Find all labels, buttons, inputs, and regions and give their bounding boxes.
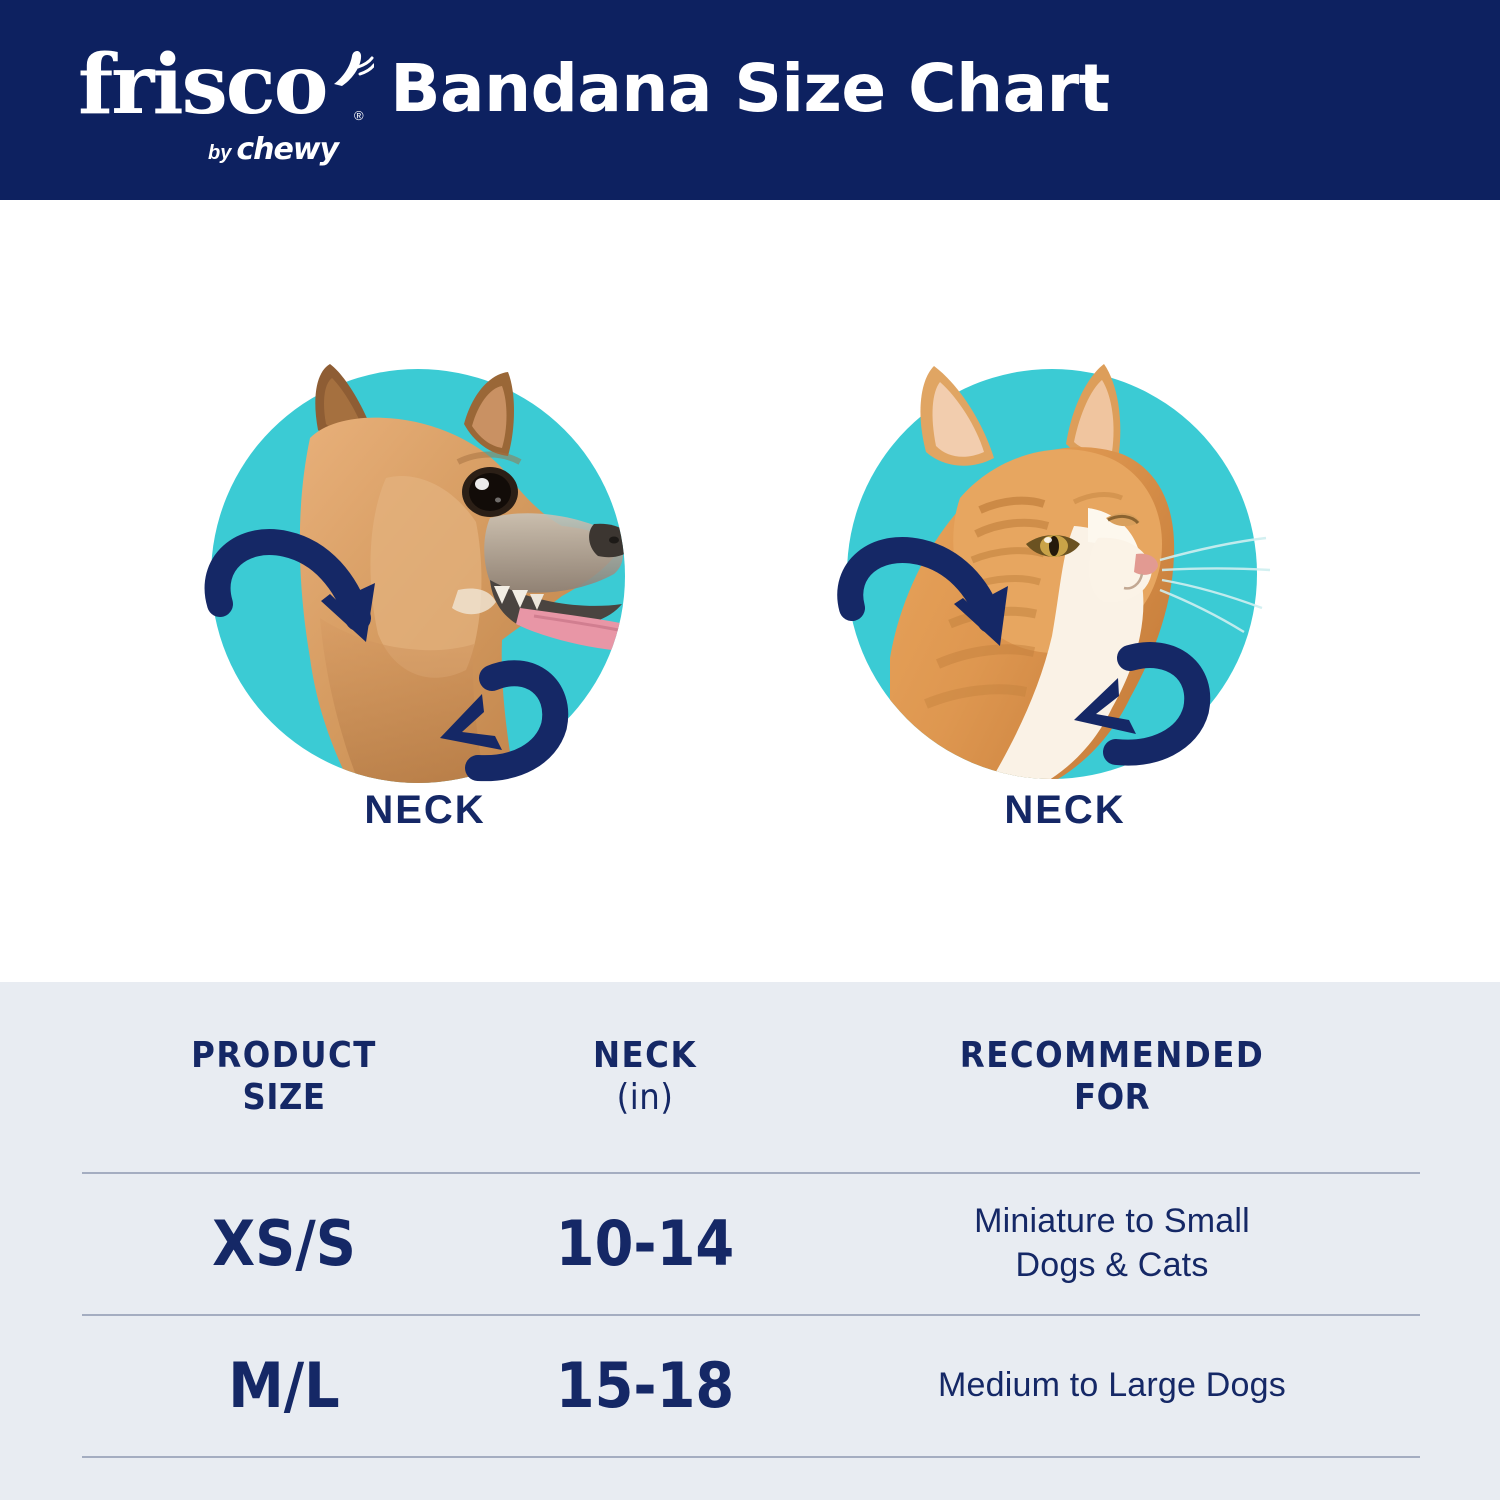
cat-neck-label: NECK: [830, 788, 1300, 833]
cell-recommended-for: Medium to Large Dogs: [804, 1364, 1420, 1408]
cell-recommended-for-text: Miniature to Small Dogs & Cats: [974, 1202, 1250, 1284]
illustration-area: NECK: [0, 200, 1500, 982]
column-header-recommended-for: RECOMMENDED FOR: [804, 1035, 1420, 1120]
cell-product-size: XS/S: [82, 1213, 486, 1275]
by-chewy-lockup: bychewy: [208, 132, 338, 167]
dog-measure-illustration: NECK: [190, 358, 660, 878]
cell-neck-range: 10-14: [486, 1213, 804, 1275]
table-row: XS/S 10-14 Miniature to Small Dogs & Cat…: [82, 1174, 1420, 1314]
column-header-neck-text: NECK (in): [486, 1035, 804, 1120]
header-bar: frisco ® bychewy Bandana Size Chart: [0, 0, 1500, 200]
table-header-row: PRODUCT SIZE NECK (in) RECOMMENDED FOR: [82, 982, 1420, 1172]
column-header-recommended-for-text: RECOMMENDED FOR: [804, 1035, 1420, 1120]
cat-image: [830, 358, 1300, 788]
table-grid: PRODUCT SIZE NECK (in) RECOMMENDED FOR: [82, 982, 1420, 1458]
logo-by-text: by: [208, 142, 231, 164]
table-divider: [82, 1172, 1420, 1174]
page-title: Bandana Size Chart: [0, 56, 1500, 122]
dog-image: [190, 358, 660, 788]
column-header-product-size-text: PRODUCT SIZE: [82, 1035, 486, 1120]
column-header-neck: NECK (in): [486, 1035, 804, 1120]
table-divider: [82, 1314, 1420, 1316]
chewy-wordmark: chewy: [236, 132, 338, 167]
cell-recommended-for-text: Medium to Large Dogs: [938, 1366, 1286, 1404]
cell-product-size: M/L: [82, 1355, 486, 1417]
cell-recommended-for: Miniature to Small Dogs & Cats: [804, 1200, 1420, 1287]
cell-neck-range: 15-18: [486, 1355, 804, 1417]
size-chart-table: PRODUCT SIZE NECK (in) RECOMMENDED FOR: [0, 982, 1500, 1500]
table-row: M/L 15-18 Medium to Large Dogs: [82, 1316, 1420, 1456]
table-divider: [82, 1456, 1420, 1458]
cat-measure-illustration: NECK: [830, 358, 1300, 878]
column-header-product-size: PRODUCT SIZE: [82, 1035, 486, 1120]
dog-neck-label: NECK: [190, 788, 660, 833]
